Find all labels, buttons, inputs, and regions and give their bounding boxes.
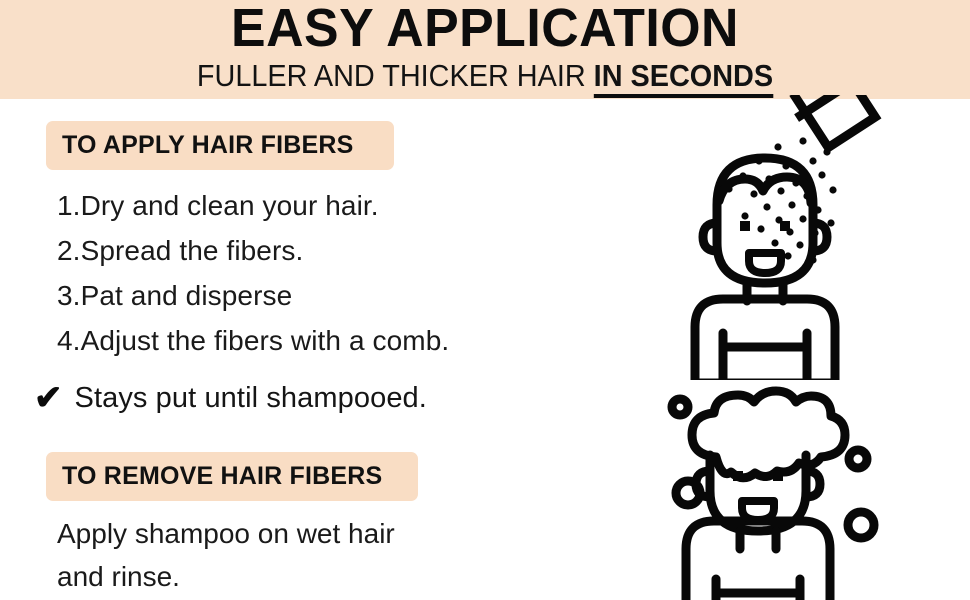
apply-steps-list: 1.Dry and clean your hair. 2.Spread the …	[57, 183, 617, 363]
right-eye	[773, 471, 783, 481]
shirt-detail	[716, 579, 800, 600]
shirt-detail	[723, 333, 807, 380]
soap-bubble-small-right	[849, 450, 867, 468]
list-item: 2.Spread the fibers.	[57, 228, 617, 273]
subtitle-emphasis: IN SECONDS	[594, 58, 773, 98]
torso-bottom	[695, 357, 835, 380]
soap-bubble-small-top-left	[672, 399, 688, 415]
step-number: 4.	[57, 325, 81, 356]
shampoo-lather	[692, 391, 845, 478]
list-item: 4.Adjust the fibers with a comb.	[57, 318, 617, 363]
left-eye	[740, 221, 750, 231]
remove-instructions-line-1: Apply shampoo on wet hair	[57, 512, 537, 555]
remove-instructions: Apply shampoo on wet hair and rinse.	[57, 512, 537, 598]
step-text: Adjust the fibers with a comb.	[81, 325, 450, 356]
list-item: 3.Pat and disperse	[57, 273, 617, 318]
person-applying-fibers-illustration	[655, 95, 965, 380]
stays-put-note: ✔ Stays put until shampooed.	[34, 381, 427, 415]
right-eye	[780, 221, 790, 231]
step-text: Spread the fibers.	[81, 235, 304, 266]
section-badge-remove: TO REMOVE HAIR FIBERS	[46, 452, 418, 501]
mouth	[749, 253, 781, 273]
remove-instructions-line-2: and rinse.	[57, 555, 537, 598]
page-title: EASY APPLICATION	[19, 0, 950, 58]
face-features	[740, 221, 790, 231]
poster-root: EASY APPLICATION FULLER AND THICKER HAIR…	[0, 0, 970, 600]
step-number: 3.	[57, 280, 81, 311]
step-number: 2.	[57, 235, 81, 266]
step-text: Pat and disperse	[81, 280, 293, 311]
step-number: 1.	[57, 190, 81, 221]
stays-put-note-text: Stays put until shampooed.	[75, 381, 427, 415]
soap-bubble-medium-right	[848, 512, 874, 538]
section-badge-apply: TO APPLY HAIR FIBERS	[46, 121, 394, 170]
section-badge-remove-label: TO REMOVE HAIR FIBERS	[62, 462, 382, 491]
hair	[719, 177, 811, 203]
page-subtitle: FULLER AND THICKER HAIR IN SECONDS	[34, 58, 936, 94]
list-item: 1.Dry and clean your hair.	[57, 183, 617, 228]
left-eye	[733, 471, 743, 481]
section-badge-apply-label: TO APPLY HAIR FIBERS	[62, 131, 354, 160]
mouth	[742, 501, 774, 520]
header-band: EASY APPLICATION FULLER AND THICKER HAIR…	[0, 0, 970, 99]
step-text: Dry and clean your hair.	[81, 190, 379, 221]
subtitle-prefix: FULLER AND THICKER HAIR	[197, 58, 594, 93]
check-mark-icon: ✔	[34, 381, 63, 415]
person-washing-hair-illustration	[650, 383, 970, 600]
